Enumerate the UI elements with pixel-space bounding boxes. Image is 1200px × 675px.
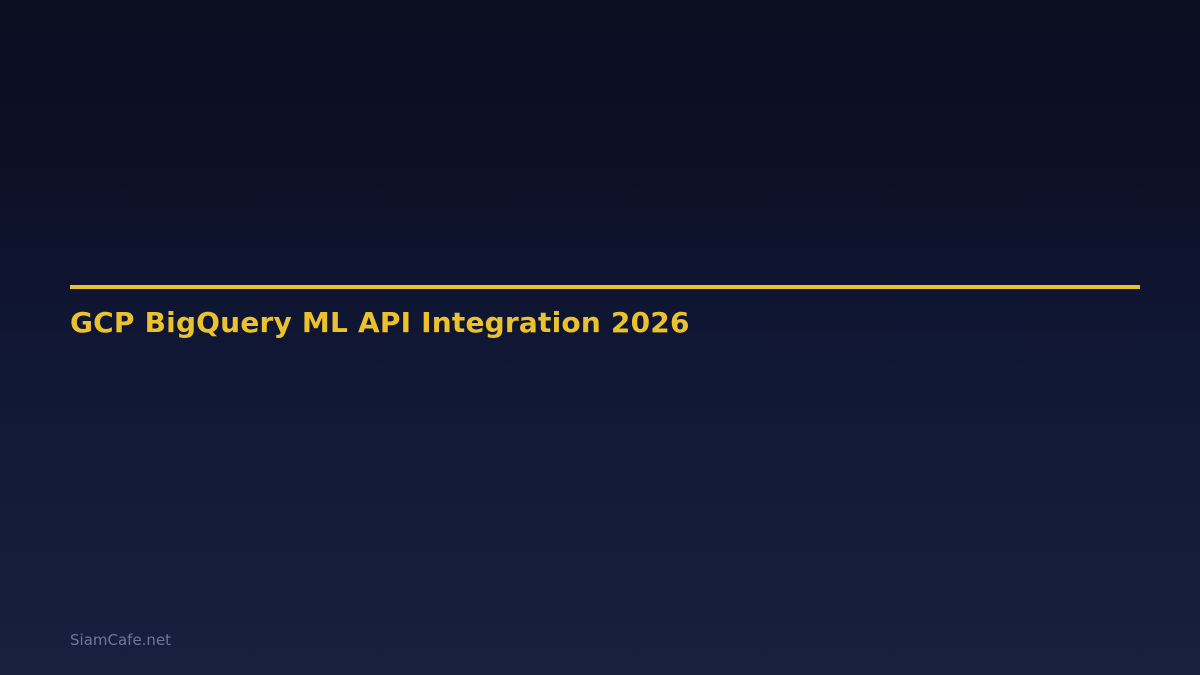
title-accent-rule xyxy=(70,285,1140,289)
footer-watermark: SiamCafe.net xyxy=(70,630,171,650)
page-title: GCP BigQuery ML API Integration 2026 xyxy=(70,306,690,340)
slide-canvas: GCP BigQuery ML API Integration 2026 Sia… xyxy=(0,0,1200,675)
